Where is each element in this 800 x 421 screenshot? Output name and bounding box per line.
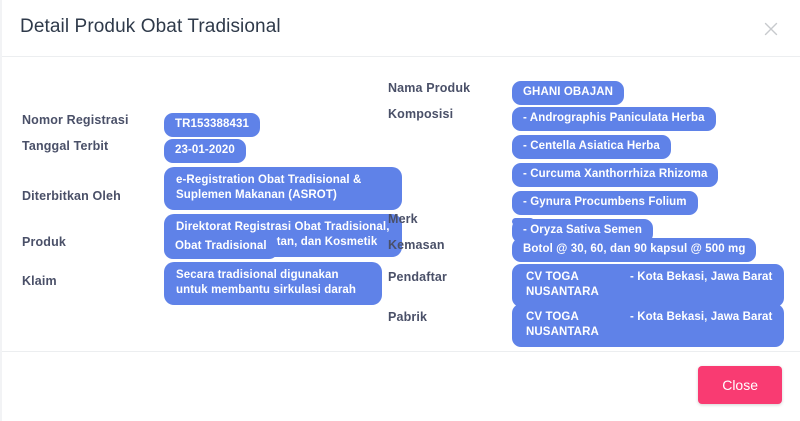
field-label: Kemasan — [388, 238, 500, 252]
field-value-group: TR153388431 — [164, 113, 260, 137]
value-pill: TR153388431 — [164, 113, 260, 137]
field-label: Klaim — [22, 274, 142, 288]
field-value-group: 23-01-2020 — [164, 139, 246, 163]
field-klaim: Klaim Secara tradisional digunakan untuk… — [22, 262, 382, 305]
value-pill: Secara tradisional digunakan untuk memba… — [164, 262, 382, 305]
close-icon[interactable] — [758, 16, 784, 42]
field-value-group: Botol @ 30, 60, dan 90 kapsul @ 500 mg — [512, 238, 756, 262]
field-tanggal-terbit: Tanggal Terbit 23-01-2020 — [22, 139, 246, 163]
field-value-group: Secara tradisional digunakan untuk memba… — [164, 262, 382, 305]
field-value-group — [512, 218, 534, 225]
value-pill: - Gynura Procumbens Folium — [512, 191, 698, 215]
field-value-group: GHANI OBAJAN — [512, 81, 624, 105]
value-pill: - Centella Asiatica Herba — [512, 135, 671, 159]
value-pill: Botol @ 30, 60, dan 90 kapsul @ 500 mg — [512, 238, 756, 262]
company-location: - Kota Bekasi, Jawa Barat — [630, 270, 784, 300]
field-label: Merk — [388, 212, 500, 226]
field-value-group: Obat Tradisional — [164, 235, 278, 259]
field-label: Komposisi — [388, 107, 500, 121]
value-pill: e-Registration Obat Tradisional & Suplem… — [164, 167, 402, 210]
field-produk: Produk Obat Tradisional — [22, 235, 278, 259]
value-pill: CV TOGA NUSANTARA - Kota Bekasi, Jawa Ba… — [512, 304, 784, 347]
dialog-body: Nomor Registrasi TR153388431 Tanggal Ter… — [2, 57, 800, 352]
field-value-group: CV TOGA NUSANTARA - Kota Bekasi, Jawa Ba… — [512, 264, 784, 307]
value-pill: - Andrographis Paniculata Herba — [512, 107, 716, 131]
field-pabrik: Pabrik CV TOGA NUSANTARA - Kota Bekasi, … — [388, 304, 784, 347]
dialog-title: Detail Produk Obat Tradisional — [20, 16, 281, 38]
value-pill: GHANI OBAJAN — [512, 81, 624, 105]
field-label: Nama Produk — [388, 81, 500, 95]
field-label: Nomor Registrasi — [22, 113, 142, 127]
dialog-footer: Close — [2, 352, 800, 420]
field-value-group: CV TOGA NUSANTARA - Kota Bekasi, Jawa Ba… — [512, 304, 784, 347]
company-name: CV TOGA NUSANTARA — [512, 310, 630, 340]
field-nama-produk: Nama Produk GHANI OBAJAN — [388, 81, 624, 105]
field-kemasan: Kemasan Botol @ 30, 60, dan 90 kapsul @ … — [388, 238, 756, 262]
field-pendaftar: Pendaftar CV TOGA NUSANTARA - Kota Bekas… — [388, 264, 784, 307]
field-nomor-registrasi: Nomor Registrasi TR153388431 — [22, 113, 260, 137]
field-label: Pabrik — [388, 310, 500, 324]
close-button[interactable]: Close — [698, 366, 782, 404]
company-name: CV TOGA NUSANTARA — [512, 270, 630, 300]
value-pill: - Curcuma Xanthorrhiza Rhizoma — [512, 163, 718, 187]
value-pill-empty — [512, 218, 534, 225]
dialog-header: Detail Produk Obat Tradisional — [2, 0, 800, 57]
company-location: - Kota Bekasi, Jawa Barat — [630, 310, 784, 340]
field-merk: Merk — [388, 212, 534, 226]
field-label: Produk — [22, 235, 142, 249]
field-label: Tanggal Terbit — [22, 139, 142, 153]
value-pill: CV TOGA NUSANTARA - Kota Bekasi, Jawa Ba… — [512, 264, 784, 307]
value-pill: 23-01-2020 — [164, 139, 246, 163]
field-label: Diterbitkan Oleh — [22, 189, 142, 203]
detail-product-dialog: Detail Produk Obat Tradisional Nomor Reg… — [0, 0, 800, 421]
field-value-group: - Andrographis Paniculata Herba - Centel… — [512, 107, 718, 243]
field-label: Pendaftar — [388, 270, 500, 284]
value-pill: Obat Tradisional — [164, 235, 278, 259]
